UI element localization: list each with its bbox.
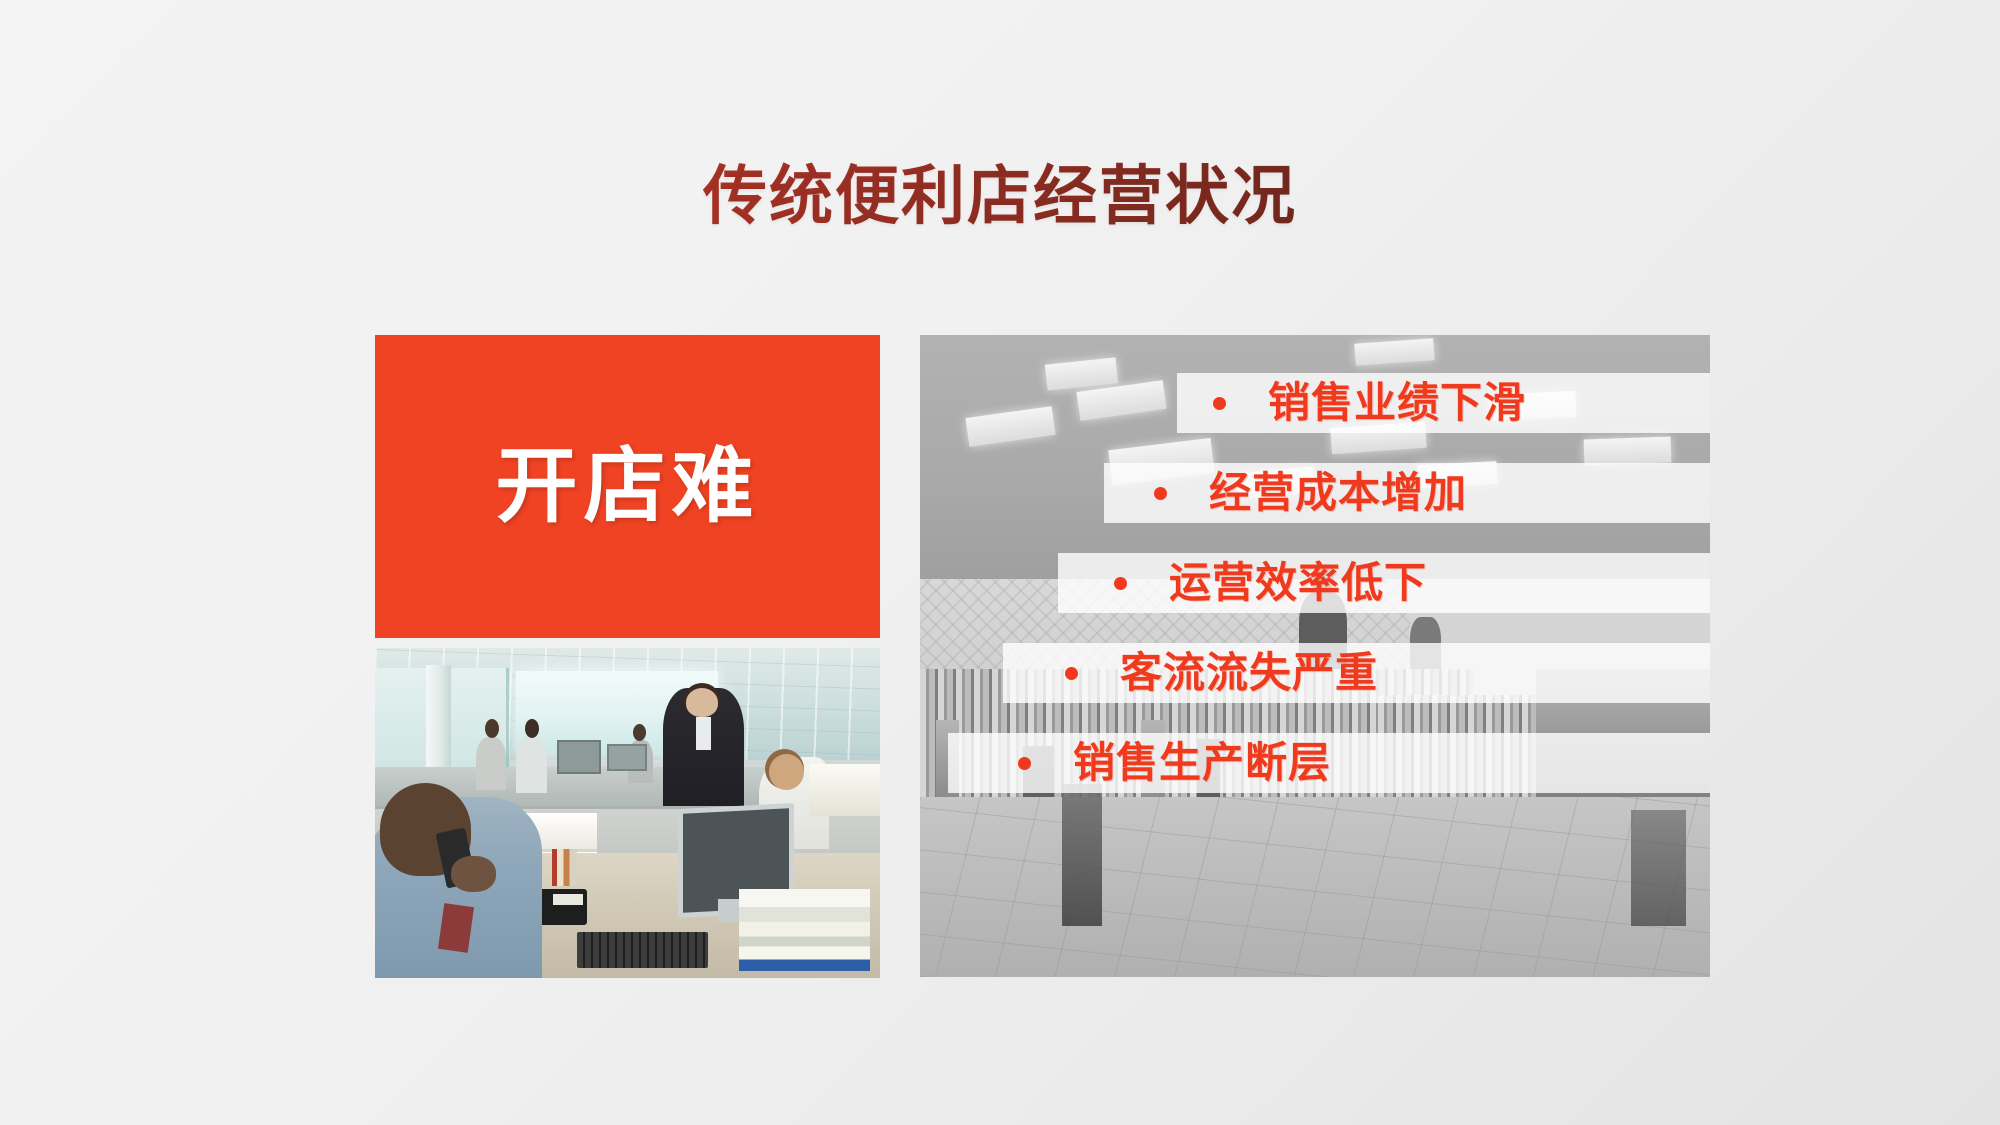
photo-manager-shirt — [696, 717, 711, 750]
photo-keyboard — [577, 932, 708, 968]
slide-canvas: 传统便利店经营状况 开店难 — [0, 0, 2000, 1125]
dot-bullet-icon — [1114, 577, 1127, 590]
photo-paper-stack-right-back — [809, 764, 880, 817]
bullet-band-1: 销售业绩下滑 — [1177, 373, 1710, 433]
bullet-band-2: 经营成本增加 — [1104, 463, 1710, 523]
red-highlight-card: 开店难 — [375, 335, 880, 638]
photo-manager-head — [686, 688, 719, 718]
photo-foreground-hand — [451, 856, 496, 892]
store-photo-panel: 销售业绩下滑 经营成本增加 运营效率低下 客流流失严重 销售生产断层 — [920, 335, 1710, 977]
photo-foreground-tie — [438, 904, 474, 954]
dot-bullet-icon — [1065, 667, 1078, 680]
bullet-label: 销售业绩下滑 — [1268, 382, 1526, 424]
store-foreground-stand — [1062, 784, 1102, 925]
bullet-label: 客流流失严重 — [1120, 652, 1378, 694]
store-floor-tiles — [920, 797, 1710, 977]
store-foreground-stand — [1631, 810, 1686, 926]
office-photo — [375, 648, 880, 978]
photo-worker-seated-right-head — [769, 754, 804, 790]
photo-paper-stack-right — [739, 889, 870, 972]
photo-worker-standing — [476, 737, 506, 790]
photo-monitor-back-left — [557, 740, 601, 774]
dot-bullet-icon — [1213, 397, 1226, 410]
photo-monitor-back-right — [607, 744, 646, 771]
bullet-band-4: 客流流失严重 — [1003, 643, 1710, 703]
dot-bullet-icon — [1154, 487, 1167, 500]
bullet-band-5: 销售生产断层 — [948, 733, 1710, 793]
bullet-label: 销售生产断层 — [1073, 742, 1331, 784]
photo-pen-holder — [552, 849, 577, 885]
bullet-band-3: 运营效率低下 — [1058, 553, 1710, 613]
store-ceiling-light — [1583, 436, 1671, 465]
bullet-label: 经营成本增加 — [1209, 472, 1467, 514]
page-title: 传统便利店经营状况 — [0, 161, 2000, 231]
bullet-label: 运营效率低下 — [1169, 562, 1427, 604]
dot-bullet-icon — [1018, 757, 1031, 770]
left-column: 开店难 — [375, 335, 880, 977]
photo-worker-seated-left — [516, 737, 546, 793]
red-card-label: 开店难 — [495, 446, 759, 528]
